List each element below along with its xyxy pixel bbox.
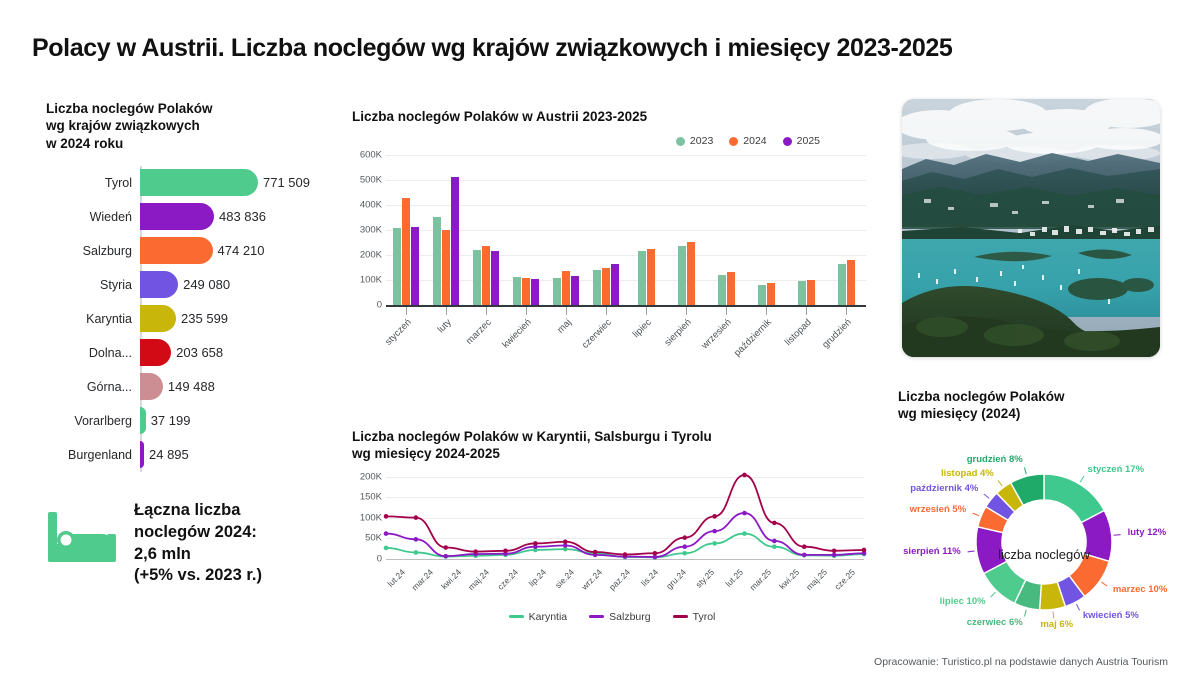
- bar-2023: [718, 275, 726, 305]
- austria-lake-photo: [902, 99, 1160, 357]
- tick-mark: [766, 307, 767, 315]
- data-point-Salzburg: [832, 552, 837, 557]
- data-point-Karyntia: [682, 550, 687, 555]
- x-tick: [586, 307, 626, 315]
- x-label-cell: lipiec: [626, 315, 666, 359]
- x-axis-label: grudzień: [820, 317, 854, 351]
- bar-2024: [562, 271, 570, 306]
- x-axis-label: marzec: [464, 317, 494, 347]
- x-axis-label: sty.25: [694, 567, 717, 590]
- states-bar-label: Dolna...: [46, 346, 140, 360]
- states-bar-value: 771 509: [263, 175, 310, 190]
- data-point-Salzburg: [802, 552, 807, 557]
- bar-2024: [522, 278, 530, 306]
- x-label-cell: grudzień: [826, 315, 866, 359]
- states-bar-label: Burgenland: [46, 448, 140, 462]
- data-point-Tyrol: [742, 472, 747, 477]
- bar-2024: [647, 249, 655, 305]
- x-axis-label: listopad: [783, 317, 814, 348]
- line-Tyrol: [386, 474, 864, 554]
- donut-leader-line: [1024, 609, 1026, 616]
- legend-dot-icon: [783, 137, 792, 146]
- regions-line-chart-panel: Liczba noclegów Polaków w Karyntii, Sals…: [352, 428, 872, 623]
- x-label-cell: sty.25: [695, 565, 723, 609]
- x-label-cell: kwiecień: [506, 315, 546, 359]
- x-axis-label: sie.24: [553, 567, 576, 590]
- states-bar-chart: Tyrol771 509Wiedeń483 836Salzburg474 210…: [46, 166, 336, 472]
- tick-mark: [446, 307, 447, 315]
- states-bar-label: Karyntia: [46, 312, 140, 326]
- months-chart-x-axis: styczeńlutymarzeckwiecieńmajczerwieclipi…: [386, 315, 866, 359]
- bar-2023: [553, 278, 561, 305]
- x-axis-label: gru.24: [664, 567, 688, 591]
- y-tick-label: 0: [377, 300, 382, 311]
- bar-group: [746, 155, 786, 305]
- x-axis-label: wrz.24: [579, 567, 604, 592]
- donut-label-wrzesień: wrzesień 5%: [910, 504, 967, 515]
- x-tick: [426, 307, 466, 315]
- x-label-cell: kwi.24: [442, 565, 470, 609]
- bar-2024: [847, 260, 855, 306]
- x-label-cell: sie.24: [555, 565, 583, 609]
- x-axis-label: sierpień: [662, 317, 693, 348]
- donut-leader-line: [990, 592, 995, 597]
- data-point-Salzburg: [384, 531, 389, 536]
- data-point-Tyrol: [832, 548, 837, 553]
- bar-2023: [638, 251, 646, 306]
- donut-label-czerwiec: czerwiec 6%: [967, 617, 1023, 628]
- data-point-Karyntia: [742, 531, 747, 536]
- months-chart-plot-area: styczeńlutymarzeckwiecieńmajczerwieclipi…: [386, 155, 866, 305]
- donut-label-maj: maj 6%: [1029, 619, 1085, 630]
- data-point-Tyrol: [862, 547, 867, 552]
- states-chart-title: Liczba noclegów Polakówwg krajów związko…: [46, 100, 336, 152]
- data-point-Salzburg: [742, 510, 747, 515]
- donut-label-marzec: marzec 10%: [1113, 584, 1167, 595]
- bed-icon: [46, 508, 120, 573]
- donut-leader-line: [998, 480, 1002, 486]
- y-tick-label: 50K: [365, 533, 382, 544]
- x-axis-label: mar.24: [410, 567, 435, 592]
- data-point-Tyrol: [802, 544, 807, 549]
- x-label-cell: lip.24: [527, 565, 555, 609]
- x-label-cell: mar.25: [752, 565, 780, 609]
- page-title: Polacy w Austrii. Liczba noclegów wg kra…: [32, 34, 952, 63]
- bar-2024: [442, 230, 450, 306]
- source-attribution: Opracowanie: Turistico.pl na podstawie d…: [874, 656, 1168, 668]
- bar-2023: [758, 285, 766, 305]
- states-bar-fill: [140, 407, 146, 434]
- states-bar-fill: [140, 339, 171, 366]
- states-bar-row: Wiedeń483 836: [46, 200, 336, 234]
- x-axis-label: maj: [555, 317, 574, 336]
- months-chart-title: Liczba noclegów Polaków w Austrii 2023-2…: [352, 108, 872, 125]
- bar-group: [466, 155, 506, 305]
- donut-label-listopad: listopad 4%: [941, 468, 994, 479]
- donut-leader-line: [984, 494, 989, 498]
- months-bar-chart-panel: Liczba noclegów Polaków w Austrii 2023-2…: [352, 108, 872, 357]
- legend-item-2023[interactable]: 2023: [676, 135, 713, 147]
- x-label-cell: kwi.25: [780, 565, 808, 609]
- x-label-cell: listopad: [786, 315, 826, 359]
- x-tick: [746, 307, 786, 315]
- x-label-cell: marzec: [466, 315, 506, 359]
- bar-2023: [678, 246, 686, 306]
- x-axis-label: maj.24: [466, 567, 491, 592]
- donut-label-październik: październik 4%: [910, 483, 978, 494]
- states-bar-track: 235 599: [140, 302, 336, 336]
- tick-mark: [606, 307, 607, 315]
- tick-mark: [486, 307, 487, 315]
- tick-mark: [686, 307, 687, 315]
- line-Salzburg: [386, 513, 864, 557]
- regions-lines: [386, 477, 864, 559]
- legend-label: 2025: [797, 135, 820, 147]
- data-point-Salzburg: [682, 544, 687, 549]
- states-bar-value: 24 895: [149, 447, 189, 462]
- states-bar-label: Vorarlberg: [46, 414, 140, 428]
- x-tick: [786, 307, 826, 315]
- legend-label: Karyntia: [529, 611, 568, 623]
- donut-leader-line: [1114, 534, 1121, 535]
- x-label-cell: gru.24: [667, 565, 695, 609]
- data-point-Tyrol: [653, 550, 658, 555]
- donut-label-sierpień: sierpień 11%: [903, 546, 961, 557]
- states-bar-row: Tyrol771 509: [46, 166, 336, 200]
- bar-group: [786, 155, 826, 305]
- states-bar-track: 37 199: [140, 404, 336, 438]
- states-bar-value: 249 080: [183, 277, 230, 292]
- x-tick: [506, 307, 546, 315]
- data-point-Karyntia: [414, 550, 419, 555]
- months-chart-bars: [386, 155, 866, 305]
- states-bar-track: 483 836: [140, 200, 336, 234]
- x-axis-label: kwi.25: [777, 567, 801, 591]
- states-bar-fill: [140, 203, 214, 230]
- y-tick-label: 400K: [360, 200, 382, 211]
- tick-mark: [726, 307, 727, 315]
- y-tick-label: 200K: [360, 250, 382, 261]
- states-bar-fill: [140, 237, 213, 264]
- x-axis-label: styczeń: [383, 317, 414, 348]
- data-point-Karyntia: [772, 544, 777, 549]
- states-bar-chart-panel: Liczba noclegów Polakówwg krajów związko…: [46, 100, 336, 472]
- bar-2024: [402, 198, 410, 305]
- data-point-Salzburg: [443, 553, 448, 558]
- states-bar-fill: [140, 169, 258, 196]
- x-label-cell: wrz.24: [583, 565, 611, 609]
- legend-item-2024[interactable]: 2024: [729, 135, 766, 147]
- x-tick: [706, 307, 746, 315]
- data-point-Tyrol: [384, 514, 389, 519]
- data-point-Salzburg: [712, 528, 717, 533]
- legend-item-Karyntia[interactable]: Karyntia: [509, 611, 568, 623]
- x-tick: [626, 307, 666, 315]
- states-bar-row: Karyntia235 599: [46, 302, 336, 336]
- states-bar-fill: [140, 305, 176, 332]
- regions-chart-plot-area: lut.24mar.24kwi.24maj.24cze.24lip.24sie.…: [386, 477, 864, 559]
- states-bar-label: Styria: [46, 278, 140, 292]
- x-axis-label: lip.24: [526, 567, 547, 588]
- states-bar-value: 37 199: [151, 413, 191, 428]
- months-donut-panel: Liczba noclegów Polakówwg miesięcy (2024…: [898, 388, 1190, 655]
- tick-mark: [646, 307, 647, 315]
- states-bar-value: 149 488: [168, 379, 215, 394]
- data-point-Tyrol: [772, 520, 777, 525]
- donut-chart: liczba noclegów styczeń 17%luty 12%marze…: [898, 429, 1190, 655]
- donut-leader-line: [1024, 467, 1026, 474]
- donut-label-luty: luty 12%: [1128, 527, 1167, 538]
- data-point-Tyrol: [414, 515, 419, 520]
- states-bar-label: Salzburg: [46, 244, 140, 258]
- data-point-Salzburg: [414, 537, 419, 542]
- bar-2023: [513, 277, 521, 306]
- x-label-cell: czerwiec: [586, 315, 626, 359]
- x-label-cell: cze.25: [836, 565, 864, 609]
- tick-mark: [846, 307, 847, 315]
- x-label-cell: maj: [546, 315, 586, 359]
- regions-chart-legend: KaryntiaSalzburgTyrol: [352, 611, 872, 623]
- x-tick: [466, 307, 506, 315]
- x-label-cell: paz.24: [611, 565, 639, 609]
- data-point-Tyrol: [712, 514, 717, 519]
- data-point-Tyrol: [563, 539, 568, 544]
- bar-2023: [838, 264, 846, 305]
- states-bar-fill: [140, 441, 144, 468]
- bar-2023: [433, 217, 441, 306]
- x-axis-label: kwiecień: [500, 317, 534, 351]
- data-point-Tyrol: [503, 548, 508, 553]
- states-bar-value: 235 599: [181, 311, 228, 326]
- donut-label-kwiecień: kwiecień 5%: [1083, 610, 1139, 621]
- legend-label: 2024: [743, 135, 766, 147]
- legend-line-icon: [673, 615, 688, 618]
- regions-chart-title: Liczba noclegów Polaków w Karyntii, Sals…: [352, 428, 872, 463]
- x-tick: [386, 307, 426, 315]
- y-tick-label: 150K: [360, 492, 382, 503]
- x-axis-label: lut.24: [385, 567, 407, 589]
- months-chart-legend: 202320242025: [352, 135, 872, 147]
- x-tick: [546, 307, 586, 315]
- bar-2025: [611, 264, 619, 306]
- data-point-Tyrol: [533, 541, 538, 546]
- states-bar-row: Styria249 080: [46, 268, 336, 302]
- states-bar-fill: [140, 373, 163, 400]
- bar-2023: [393, 228, 401, 306]
- states-bar-row: Vorarlberg37 199: [46, 404, 336, 438]
- legend-label: 2023: [690, 135, 713, 147]
- legend-line-icon: [509, 615, 524, 618]
- states-bar-value: 474 210: [218, 243, 265, 258]
- x-label-cell: cze.24: [499, 565, 527, 609]
- bar-group: [506, 155, 546, 305]
- x-tick-marks: [386, 307, 866, 315]
- regions-chart-plot: 050K100K150K200Klut.24mar.24kwi.24maj.24…: [352, 473, 872, 607]
- states-bar-label: Tyrol: [46, 176, 140, 190]
- x-axis-label: lipiec: [631, 317, 654, 340]
- x-tick: [666, 307, 706, 315]
- bar-group: [546, 155, 586, 305]
- data-point-Karyntia: [712, 541, 717, 546]
- x-label-cell: styczeń: [386, 315, 426, 359]
- bar-group: [826, 155, 866, 305]
- legend-item-Salzburg[interactable]: Salzburg: [589, 611, 650, 623]
- states-bar-value: 203 658: [176, 345, 223, 360]
- x-label-cell: luty: [426, 315, 466, 359]
- legend-line-icon: [589, 615, 604, 618]
- x-label-cell: maj.25: [808, 565, 836, 609]
- tick-mark: [806, 307, 807, 315]
- states-bar-track: 771 509: [140, 166, 336, 200]
- bar-2024: [602, 268, 610, 305]
- tick-mark: [526, 307, 527, 315]
- legend-label: Tyrol: [693, 611, 716, 623]
- x-label-cell: sierpień: [666, 315, 706, 359]
- x-axis-label: luty: [436, 317, 454, 335]
- bar-2023: [473, 250, 481, 306]
- y-tick-label: 600K: [360, 150, 382, 161]
- bar-group: [666, 155, 706, 305]
- states-bar-row: Dolna...203 658: [46, 336, 336, 370]
- y-tick-label: 300K: [360, 225, 382, 236]
- donut-leader-line: [1076, 604, 1079, 610]
- data-point-Tyrol: [443, 545, 448, 550]
- x-axis-label: cze.24: [495, 567, 520, 592]
- states-bar-track: 249 080: [140, 268, 336, 302]
- x-label-cell: lut.25: [724, 565, 752, 609]
- y-tick-label: 200K: [360, 471, 382, 482]
- bar-2024: [767, 283, 775, 305]
- bar-group: [586, 155, 626, 305]
- legend-dot-icon: [729, 137, 738, 146]
- states-bar-track: 24 895: [140, 438, 336, 472]
- legend-item-2025[interactable]: 2025: [783, 135, 820, 147]
- states-bar-track: 149 488: [140, 370, 336, 404]
- y-tick-label: 100K: [360, 275, 382, 286]
- total-nights-text: Łączna liczba noclegów 2024: 2,6 mln (+5…: [134, 500, 262, 587]
- states-bar-track: 474 210: [140, 234, 336, 268]
- data-point-Karyntia: [384, 545, 389, 550]
- x-axis-label: paz.24: [607, 567, 632, 592]
- bar-2023: [593, 270, 601, 306]
- x-label-cell: maj.24: [470, 565, 498, 609]
- x-tick: [826, 307, 866, 315]
- bar-2025: [571, 276, 579, 306]
- x-axis-label: maj.25: [804, 567, 829, 592]
- data-point-Tyrol: [593, 549, 598, 554]
- donut-label-grudzień: grudzień 8%: [967, 454, 1023, 465]
- bar-2025: [491, 251, 499, 306]
- donut-leader-line: [1053, 611, 1054, 618]
- bar-group: [626, 155, 666, 305]
- donut-leader-line: [1080, 476, 1084, 482]
- bar-2025: [531, 279, 539, 306]
- states-bar-row: Górna...149 488: [46, 370, 336, 404]
- bar-2024: [807, 280, 815, 305]
- bar-2025: [411, 227, 419, 306]
- bar-2024: [687, 242, 695, 305]
- donut-chart-title: Liczba noclegów Polakówwg miesięcy (2024…: [898, 388, 1190, 423]
- data-point-Tyrol: [682, 535, 687, 540]
- legend-dot-icon: [676, 137, 685, 146]
- legend-label: Salzburg: [609, 611, 650, 623]
- donut-leader-line: [1101, 582, 1107, 586]
- bar-group: [706, 155, 746, 305]
- bar-group: [386, 155, 426, 305]
- x-label-cell: lis.24: [639, 565, 667, 609]
- states-bar-label: Górna...: [46, 380, 140, 394]
- x-axis-label: lis.24: [639, 567, 660, 588]
- x-axis-label: cze.25: [832, 567, 857, 592]
- bar-group: [426, 155, 466, 305]
- donut-label-lipiec: lipiec 10%: [940, 596, 986, 607]
- months-chart-y-axis: 0100K200K300K400K500K600K: [352, 155, 386, 305]
- regions-chart-y-axis: 050K100K150K200K: [352, 473, 386, 559]
- states-bar-label: Wiedeń: [46, 210, 140, 224]
- x-axis-label: kwi.24: [439, 567, 463, 591]
- tick-mark: [406, 307, 407, 315]
- donut-leader-line: [973, 513, 979, 516]
- legend-item-Tyrol[interactable]: Tyrol: [673, 611, 716, 623]
- x-axis-label: lut.25: [723, 567, 745, 589]
- x-label-cell: mar.24: [414, 565, 442, 609]
- donut-label-styczeń: styczeń 17%: [1088, 464, 1145, 475]
- months-chart-plot: 0100K200K300K400K500K600Kstyczeńlutymarz…: [352, 155, 872, 357]
- x-axis-label: mar.25: [747, 567, 772, 592]
- y-tick-label: 100K: [360, 512, 382, 523]
- tick-mark: [566, 307, 567, 315]
- states-bar-track: 203 658: [140, 336, 336, 370]
- x-label-cell: październik: [746, 315, 786, 359]
- states-bar-fill: [140, 271, 178, 298]
- bar-2024: [727, 272, 735, 305]
- y-tick-label: 0: [377, 553, 382, 564]
- bar-2024: [482, 246, 490, 306]
- states-bar-value: 483 836: [219, 209, 266, 224]
- regions-chart-x-axis: lut.24mar.24kwi.24maj.24cze.24lip.24sie.…: [386, 565, 864, 609]
- total-nights-summary: Łączna liczba noclegów 2024: 2,6 mln (+5…: [46, 500, 262, 587]
- states-bar-row: Burgenland24 895: [46, 438, 336, 472]
- data-point-Salzburg: [772, 538, 777, 543]
- y-tick-label: 500K: [360, 175, 382, 186]
- data-point-Tyrol: [623, 552, 628, 557]
- bar-2025: [451, 177, 459, 305]
- bar-2023: [798, 281, 806, 306]
- data-point-Tyrol: [473, 549, 478, 554]
- states-bar-row: Salzburg474 210: [46, 234, 336, 268]
